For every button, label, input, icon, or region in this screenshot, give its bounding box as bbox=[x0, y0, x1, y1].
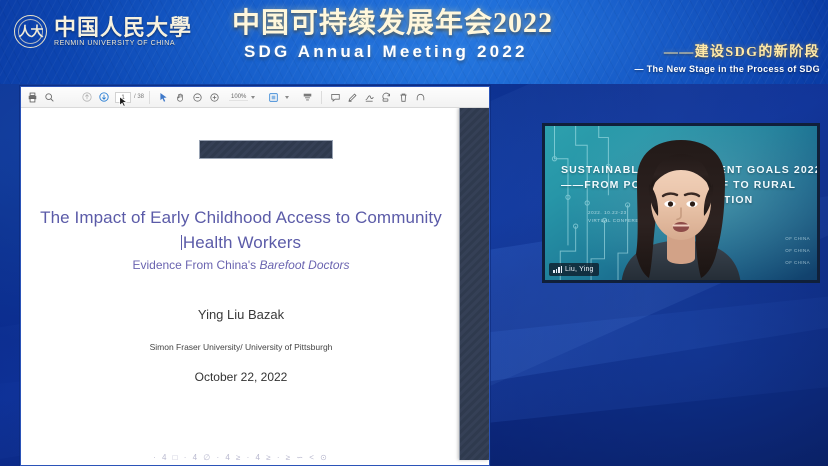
banner-subtitle-block: ——建设SDG的新阶段 — The New Stage in the Proce… bbox=[635, 45, 821, 75]
meeting-stage: 人大 中国人民大學 RENMIN UNIVERSITY OF CHINA 中国可… bbox=[0, 0, 828, 466]
presenter-video-image bbox=[615, 140, 747, 283]
toolbar-group-transfer: 1 / 38 bbox=[78, 89, 144, 106]
participant-name-label: Liu, Ying bbox=[565, 266, 594, 273]
page-layout-icon[interactable] bbox=[299, 89, 316, 106]
chevron-down-icon[interactable] bbox=[251, 96, 255, 99]
banner-title-cn: 中国可持续发展年会2022 bbox=[232, 8, 553, 40]
zoom-out-icon[interactable] bbox=[189, 89, 206, 106]
toolbar-group-annotate bbox=[327, 89, 429, 106]
virtual-bg-right-1: OF CHINA bbox=[785, 236, 810, 241]
upload-icon[interactable] bbox=[78, 89, 95, 106]
pdf-toolbar: 1 / 38 bbox=[21, 87, 489, 108]
toolbar-group-layout bbox=[265, 89, 316, 106]
slide-author: Ying Liu Bazak bbox=[21, 307, 461, 322]
search-icon[interactable] bbox=[41, 89, 58, 106]
banner-subtitle-cn: ——建设SDG的新阶段 bbox=[635, 45, 821, 62]
slide-affiliation: Simon Fraser University/ University of P… bbox=[21, 342, 461, 352]
toolbar-group-navigate: 100% bbox=[155, 89, 255, 106]
banner-title-block: 中国可持续发展年会2022 SDG Annual Meeting 2022 bbox=[232, 8, 553, 62]
university-name-cn: 中国人民大學 bbox=[54, 17, 192, 39]
university-name-block: 中国人民大學 RENMIN UNIVERSITY OF CHINA bbox=[54, 17, 192, 47]
slide-subtitle-prefix: Evidence From China's bbox=[132, 258, 259, 272]
slide-title-line-2: Health Workers bbox=[21, 233, 461, 253]
page-total-label: / 38 bbox=[134, 94, 144, 100]
banner-title-en: SDG Annual Meeting 2022 bbox=[232, 41, 553, 62]
slide-footer-navigation: · 4 □ · 4 ∅ · 4 ≥ · 4 ≥ · ≥ ∽ < ⊙ bbox=[21, 453, 461, 462]
hand-tool-icon[interactable] bbox=[172, 89, 189, 106]
select-cursor-icon[interactable] bbox=[155, 89, 172, 106]
university-logo: 人大 中国人民大學 RENMIN UNIVERSITY OF CHINA bbox=[14, 15, 192, 48]
stamp-icon[interactable] bbox=[378, 89, 395, 106]
participant-name-badge: Liu, Ying bbox=[549, 263, 599, 276]
trash-icon[interactable] bbox=[395, 89, 412, 106]
slide-subtitle-italic: Barefoot Doctors bbox=[259, 258, 349, 272]
shared-screen-edge-band bbox=[459, 108, 489, 460]
layout-chevron-down-icon[interactable] bbox=[285, 96, 289, 99]
toolbar-group-file bbox=[24, 89, 58, 106]
audio-bars-icon bbox=[553, 266, 562, 273]
rotate-icon[interactable] bbox=[412, 89, 429, 106]
toolbar-divider-1 bbox=[149, 91, 150, 104]
pdf-page-1: The Impact of Early Childhood Access to … bbox=[21, 108, 461, 466]
comment-icon[interactable] bbox=[327, 89, 344, 106]
toolbar-divider-2 bbox=[321, 91, 322, 104]
page-number-input[interactable]: 1 bbox=[115, 92, 131, 103]
highlight-pen-icon[interactable] bbox=[344, 89, 361, 106]
participant-video-tile[interactable]: SUSTAINABLE DEVELOPMENT GOALS 2022 ——FRO… bbox=[542, 123, 820, 283]
banner-subtitle-en: — The New Stage in the Process of SDG bbox=[635, 64, 821, 76]
signature-icon[interactable] bbox=[361, 89, 378, 106]
shared-screen-pdf-viewer[interactable]: 1 / 38 bbox=[20, 86, 490, 466]
seal-glyph: 人大 bbox=[15, 16, 46, 47]
virtual-bg-right-2: OF CHINA bbox=[785, 248, 810, 253]
video-feed: SUSTAINABLE DEVELOPMENT GOALS 2022 ——FRO… bbox=[545, 126, 817, 280]
pdf-page-canvas[interactable]: The Impact of Early Childhood Access to … bbox=[21, 108, 489, 466]
zoom-in-icon[interactable] bbox=[206, 89, 223, 106]
print-icon[interactable] bbox=[24, 89, 41, 106]
slide-subtitle: Evidence From China's Barefoot Doctors bbox=[21, 258, 461, 272]
conference-banner: 人大 中国人民大學 RENMIN UNIVERSITY OF CHINA 中国可… bbox=[0, 0, 828, 84]
university-name-en: RENMIN UNIVERSITY OF CHINA bbox=[54, 40, 192, 47]
fit-page-icon[interactable] bbox=[265, 89, 282, 106]
virtual-bg-right-3: OF CHINA bbox=[785, 260, 810, 265]
redacted-bar bbox=[199, 140, 333, 159]
download-icon[interactable] bbox=[95, 89, 112, 106]
slide-date: October 22, 2022 bbox=[21, 370, 461, 384]
zoom-level-value[interactable]: 100% bbox=[229, 94, 248, 101]
slide-title-line-1: The Impact of Early Childhood Access to … bbox=[21, 208, 461, 228]
university-seal-icon: 人大 bbox=[14, 15, 47, 48]
